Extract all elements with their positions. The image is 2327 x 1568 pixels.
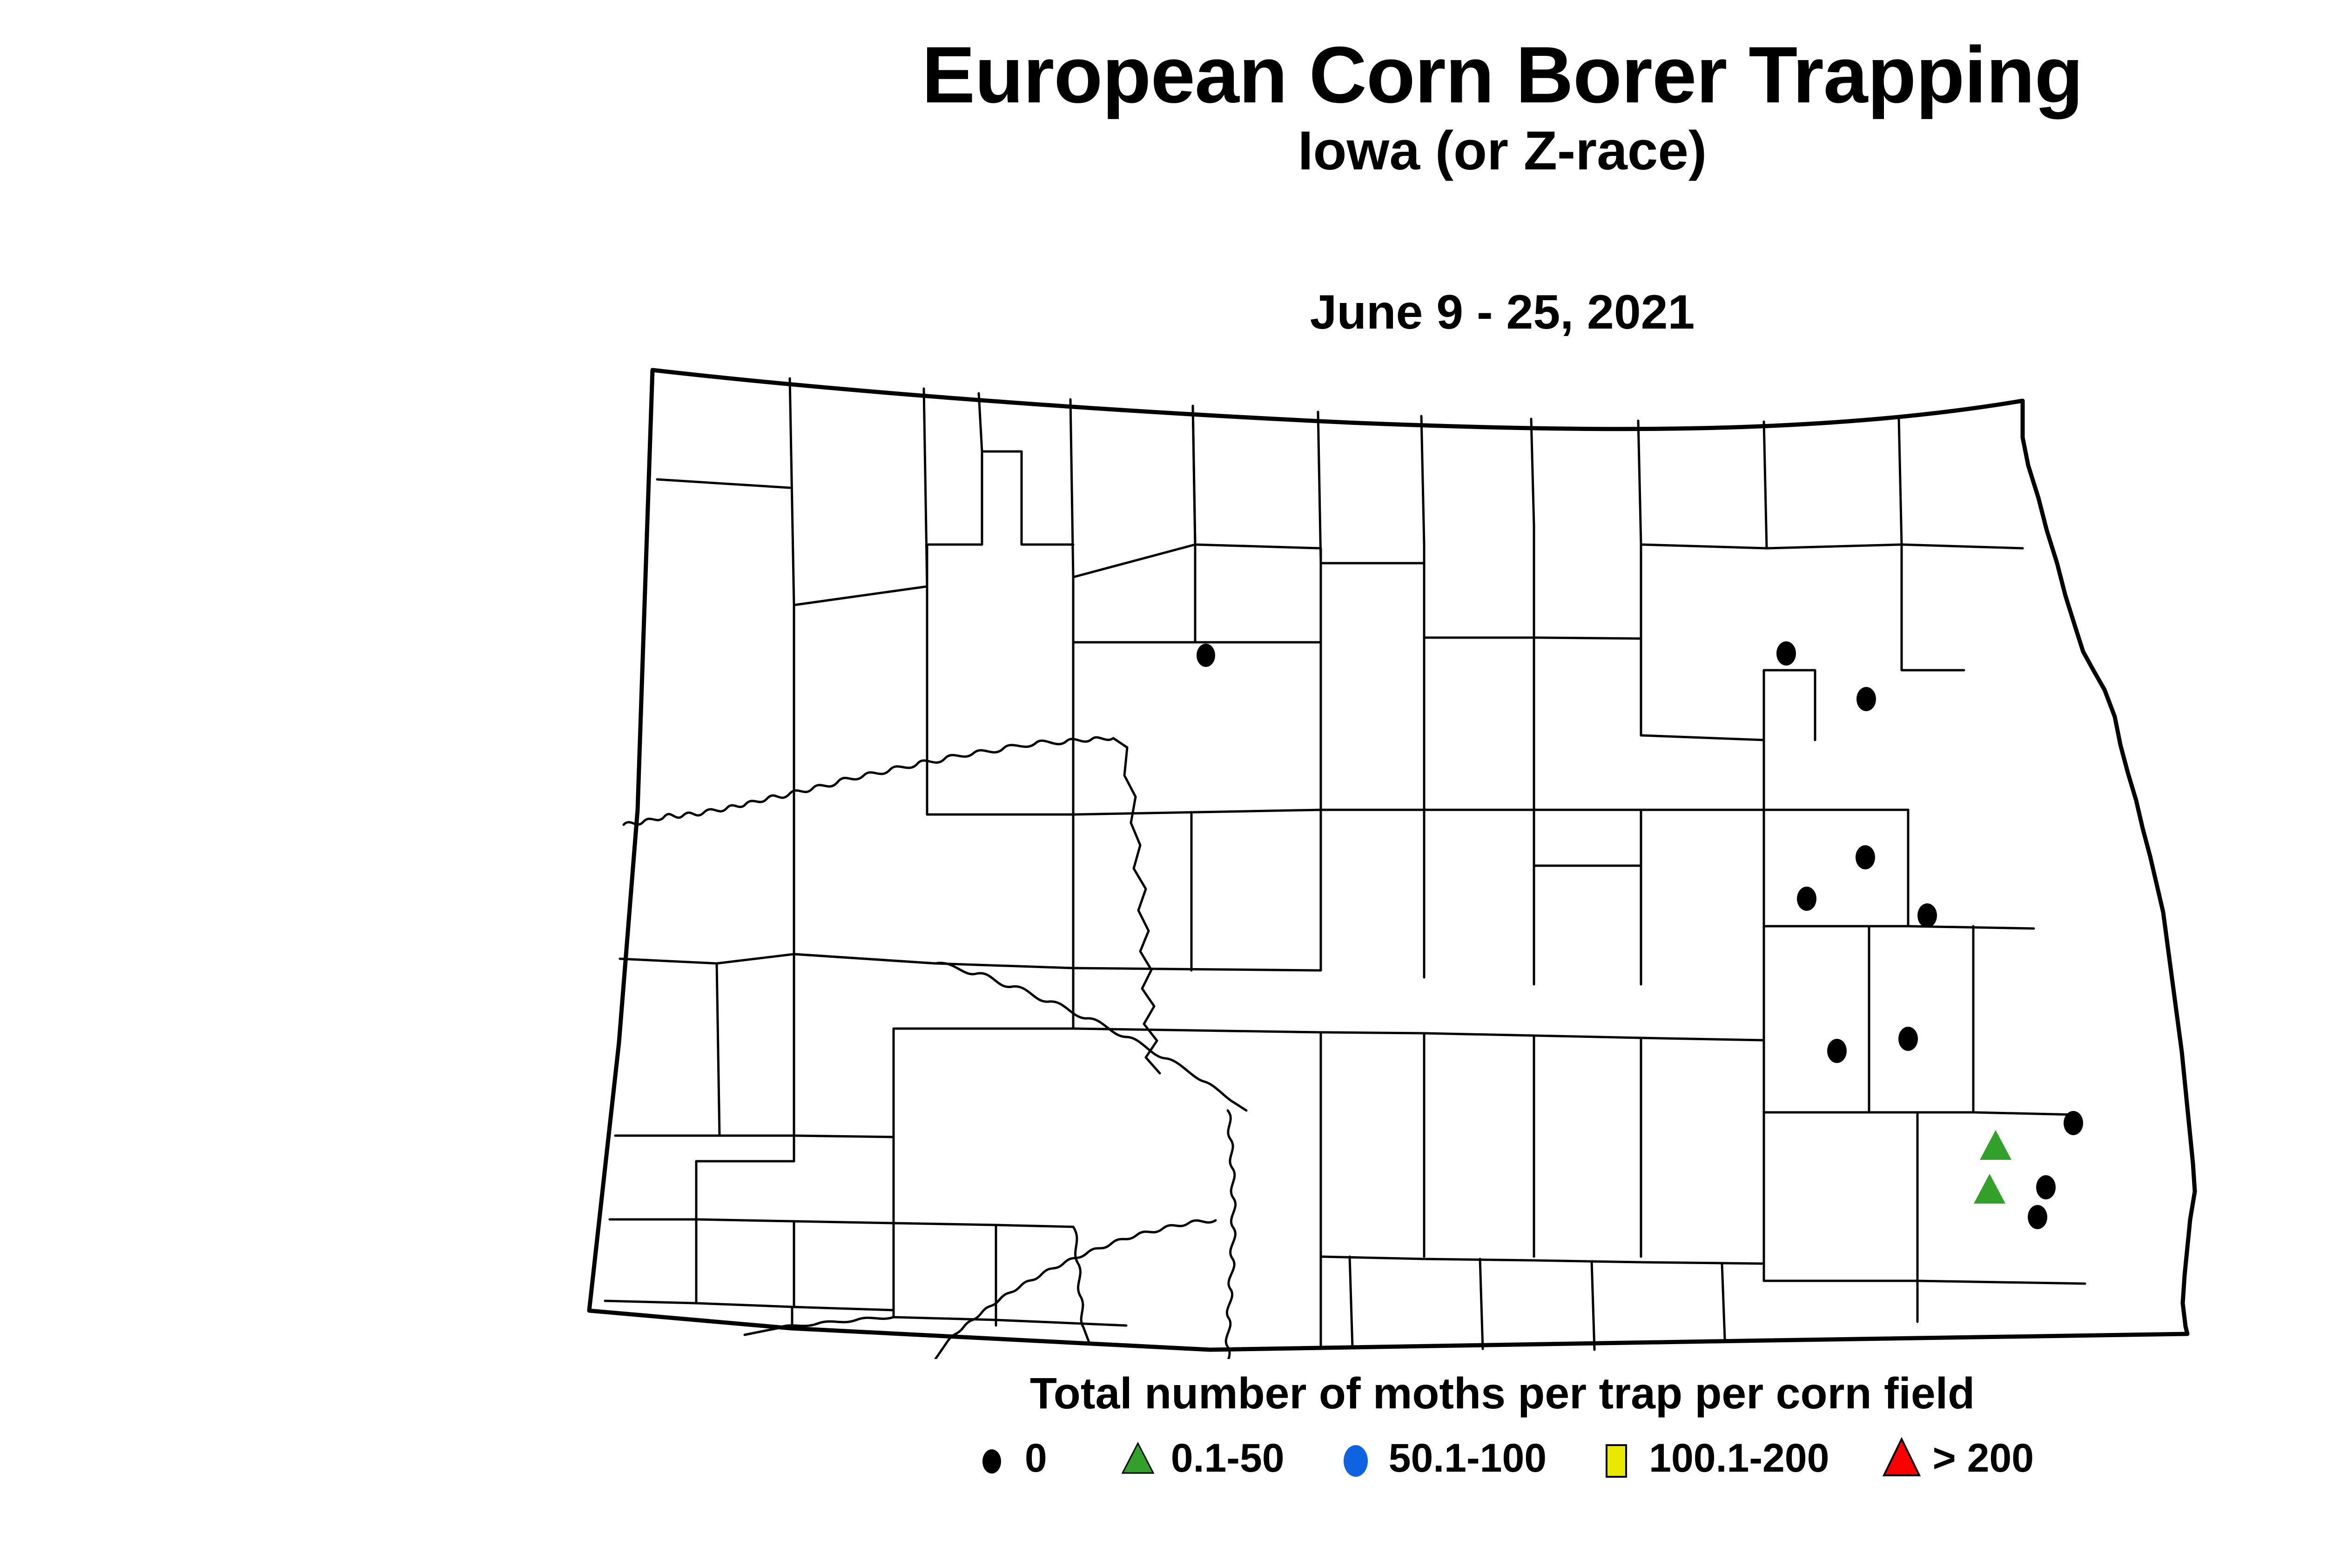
legend-label-2: 50.1-100	[1389, 1435, 1547, 1481]
county-line-e-1	[1764, 926, 2034, 929]
county-line-n-4	[1421, 416, 1424, 545]
data-point-zero	[1856, 687, 1876, 711]
county-line-wc-4	[615, 1136, 894, 1137]
data-point-zero	[1827, 1039, 1847, 1063]
data-point-zero	[2064, 1111, 2083, 1135]
data-point-zero	[1917, 903, 1937, 928]
map-container	[0, 344, 2327, 1359]
legend-label-3: 100.1-200	[1649, 1435, 1829, 1481]
map-county-outlines	[589, 370, 2195, 1359]
legend-item-3: 100.1-200	[1595, 1435, 1829, 1481]
data-point-zero	[1898, 1027, 1918, 1051]
county-line-n-1	[1070, 399, 1073, 577]
county-line-n-6	[1638, 421, 1641, 545]
county-line-s-h8	[1480, 1259, 1483, 1349]
legend-item-2: 50.1-100	[1335, 1435, 1547, 1481]
county-line-s-h9	[1592, 1261, 1594, 1350]
page-title: European Corn Borer Trapping	[0, 33, 2327, 117]
county-line-mid-h2	[1073, 810, 1908, 814]
county-line-row3-main	[794, 605, 935, 963]
data-point-zero	[1856, 845, 1875, 869]
page-root: European Corn Borer Trapping Iowa (or Z-…	[0, 0, 2327, 1568]
county-line-wc-7	[696, 1136, 794, 1219]
county-line-wc-13	[894, 1223, 1073, 1227]
legend-label-1: 0.1-50	[1171, 1435, 1285, 1481]
legend-heading: Total number of moths per trap per corn …	[0, 1368, 2327, 1419]
county-line-wc-5	[894, 1029, 1073, 1137]
county-line-wc-3	[620, 954, 794, 963]
county-line-north-center-3	[1641, 735, 1764, 810]
county-line-row2-a	[794, 586, 927, 605]
data-point-zero	[1797, 887, 1816, 911]
county-line-north-center-1	[1073, 545, 1195, 642]
legend: 0 0.1-50 50.1-100 100.1-200	[0, 1433, 2327, 1484]
data-point-zero	[2028, 1205, 2047, 1229]
title-block: European Corn Borer Trapping Iowa (or Z-…	[0, 33, 2327, 182]
county-line-e-5	[1764, 1112, 2074, 1115]
county-line-s-h1	[1073, 1029, 1764, 1040]
county-line-north-center-4	[1764, 670, 1815, 740]
lake-sakakawea-outline	[624, 737, 1160, 1073]
legend-circle-blue-icon	[1335, 1435, 1377, 1481]
missouri-river-north	[935, 963, 1246, 1110]
data-point-zero	[1197, 644, 1215, 667]
county-line-wc-2	[717, 963, 720, 1136]
county-line-mid-h1	[794, 954, 1073, 968]
county-line-wc-8	[605, 1219, 696, 1303]
county-line-e-8	[1764, 1281, 2085, 1284]
county-line-s-h6	[1321, 1257, 1764, 1264]
legend-label-0: 0	[1025, 1435, 1047, 1481]
county-line-n-5	[1531, 419, 1534, 526]
county-line-s-h10	[1722, 1264, 1725, 1339]
county-line-ne-1	[1764, 422, 1767, 548]
county-line-row1-e	[1641, 545, 2023, 548]
county-line-row2-e	[1321, 545, 1424, 563]
data-point-zero	[1776, 641, 1796, 666]
county-line-row1-w	[657, 479, 790, 488]
legend-triangle-red-icon	[1878, 1433, 1920, 1484]
county-line-row2-g	[1534, 545, 1641, 639]
county-line-nw-1	[790, 378, 794, 605]
county-line-row2-d	[1195, 545, 1321, 624]
legend-item-0: 0	[971, 1435, 1047, 1481]
county-line-n-3	[1318, 412, 1321, 563]
county-line-mid-h3	[1073, 968, 1321, 970]
county-line-wc-15	[894, 1317, 1126, 1326]
legend-circle-black-icon	[971, 1437, 1013, 1479]
north-dakota-county-map	[0, 344, 2327, 1359]
missouri-river-main	[1226, 1110, 1241, 1359]
county-line-north-center-5	[1902, 545, 1964, 670]
legend-square-yellow-icon	[1595, 1435, 1637, 1481]
legend-item-4: > 200	[1878, 1433, 2034, 1484]
page-subtitle: Iowa (or Z-race)	[0, 120, 2327, 182]
legend-triangle-green-icon	[1117, 1435, 1159, 1481]
county-line-row2-f	[1424, 526, 1534, 638]
county-line-row2-b	[927, 451, 1073, 586]
data-point-low	[1980, 1130, 2011, 1160]
legend-item-1: 0.1-50	[1117, 1435, 1285, 1481]
county-line-row1-mid	[1073, 406, 1195, 577]
data-point-low	[1974, 1174, 2005, 1204]
county-line-s-h7	[1350, 1257, 1352, 1347]
legend-label-4: > 200	[1932, 1435, 2034, 1481]
state-boundary-north-dakota	[589, 370, 2195, 1350]
county-line-c-6	[1534, 810, 1641, 866]
date-range-label: June 9 - 25, 2021	[0, 285, 2327, 340]
county-line-ne-2	[1899, 419, 1902, 545]
data-point-zero	[2036, 1175, 2056, 1199]
